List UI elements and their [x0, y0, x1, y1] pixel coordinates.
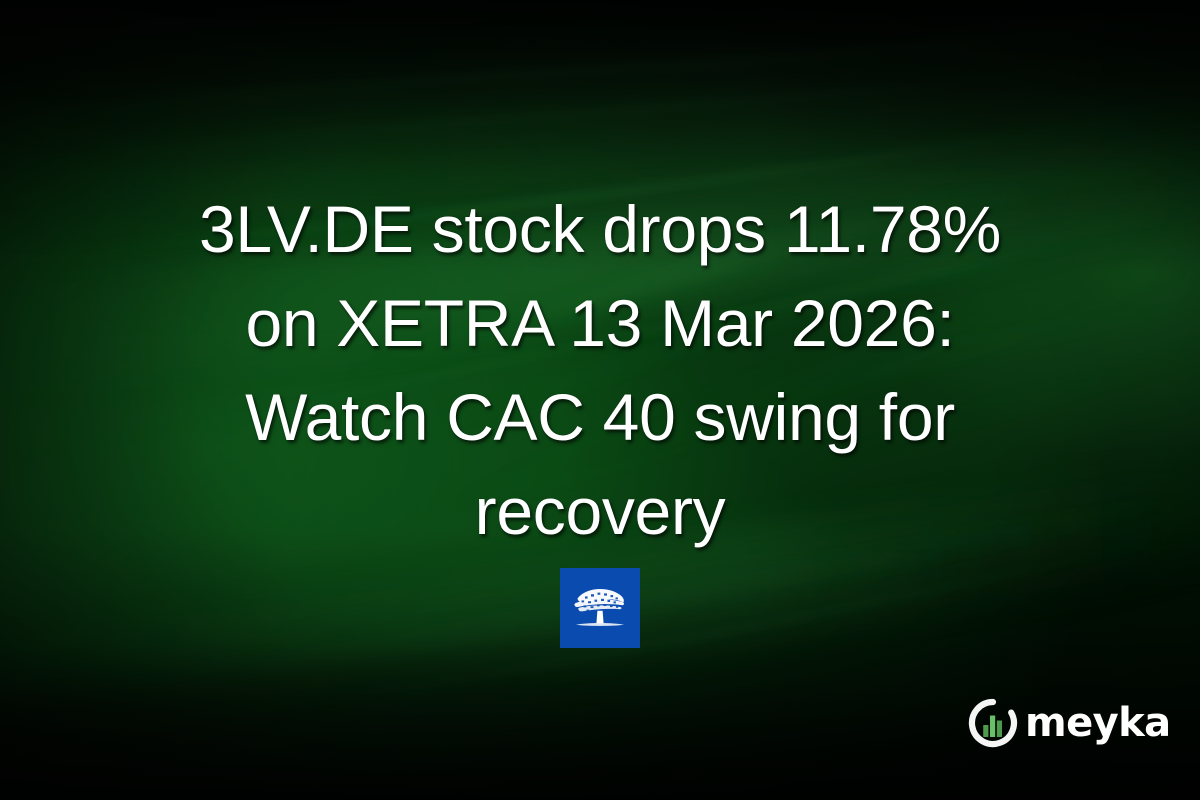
headline-text: 3LV.DE stock drops 11.78% on XETRA 13 Ma…	[60, 182, 1140, 558]
brand-name-text: meyka	[1025, 703, 1170, 743]
meyka-bar-chart-ring-icon	[968, 698, 1018, 748]
social-share-card: 3LV.DE stock drops 11.78% on XETRA 13 Ma…	[0, 0, 1200, 800]
company-logo-tile	[560, 568, 640, 648]
brand-lockup[interactable]: meyka	[968, 697, 1170, 749]
tree-logo-icon	[560, 568, 640, 648]
